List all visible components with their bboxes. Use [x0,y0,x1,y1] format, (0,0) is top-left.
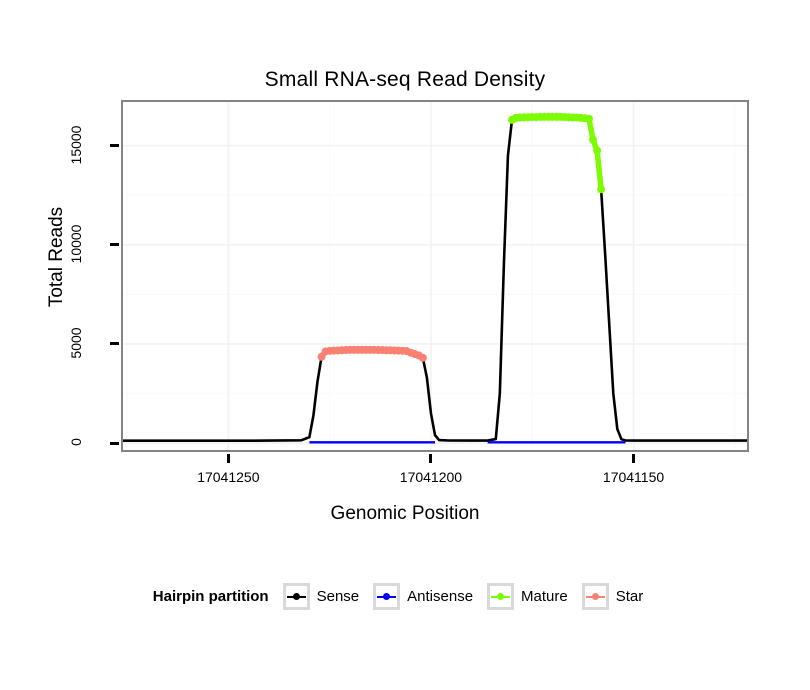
y-tick-label: 15000 [68,115,84,175]
legend-key-antisense [373,583,400,610]
x-tick-mark [429,454,432,463]
y-tick-mark [110,144,119,147]
legend: Hairpin partition SenseAntisenseMatureSt… [0,583,810,610]
x-tick-mark [227,454,230,463]
x-tick-label: 17041200 [376,469,486,485]
legend-key-mature [487,583,514,610]
series-group-star [318,346,427,362]
x-tick-label: 17041150 [579,469,689,485]
y-axis-title: Total Reads [46,187,68,327]
series-group-mature [508,113,605,193]
y-tick-label: 10000 [68,214,84,274]
legend-key-star [582,583,609,610]
legend-label: Sense [317,588,360,605]
data-point-mature [593,147,601,155]
y-tick-mark [110,243,119,246]
y-tick-mark [110,342,119,345]
legend-key-dot [497,593,504,600]
x-axis-title: Genomic Position [0,503,810,525]
legend-label: Antisense [407,588,473,605]
data-point-star [419,354,427,362]
series-line-sense [123,117,747,441]
legend-label: Mature [521,588,568,605]
legend-entry-star[interactable]: Star [582,583,652,610]
legend-entries: SenseAntisenseMatureStar [283,583,658,610]
y-tick-mark [110,442,119,445]
legend-key-sense [283,583,310,610]
plot-canvas [123,102,747,450]
legend-entry-antisense[interactable]: Antisense [373,583,481,610]
series-line-mature [512,117,601,189]
x-tick-mark [632,454,635,463]
legend-key-dot [592,593,599,600]
y-tick-label: 0 [68,412,84,472]
data-point-mature [589,136,597,144]
data-point-mature [597,185,605,193]
chart-title: Small RNA-seq Read Density [0,68,810,92]
legend-label: Star [616,588,644,605]
legend-key-dot [293,593,300,600]
legend-entry-mature[interactable]: Mature [487,583,576,610]
legend-title: Hairpin partition [153,588,269,605]
x-tick-label: 17041250 [173,469,283,485]
major-gridlines [123,102,747,450]
data-point-mature [585,115,593,123]
y-tick-label: 5000 [68,313,84,373]
minor-gridlines [123,102,747,450]
legend-entry-sense[interactable]: Sense [283,583,368,610]
legend-key-dot [383,593,390,600]
plot-panel [121,100,749,452]
chart-figure: Small RNA-seq Read Density Total Reads 0… [0,0,810,690]
